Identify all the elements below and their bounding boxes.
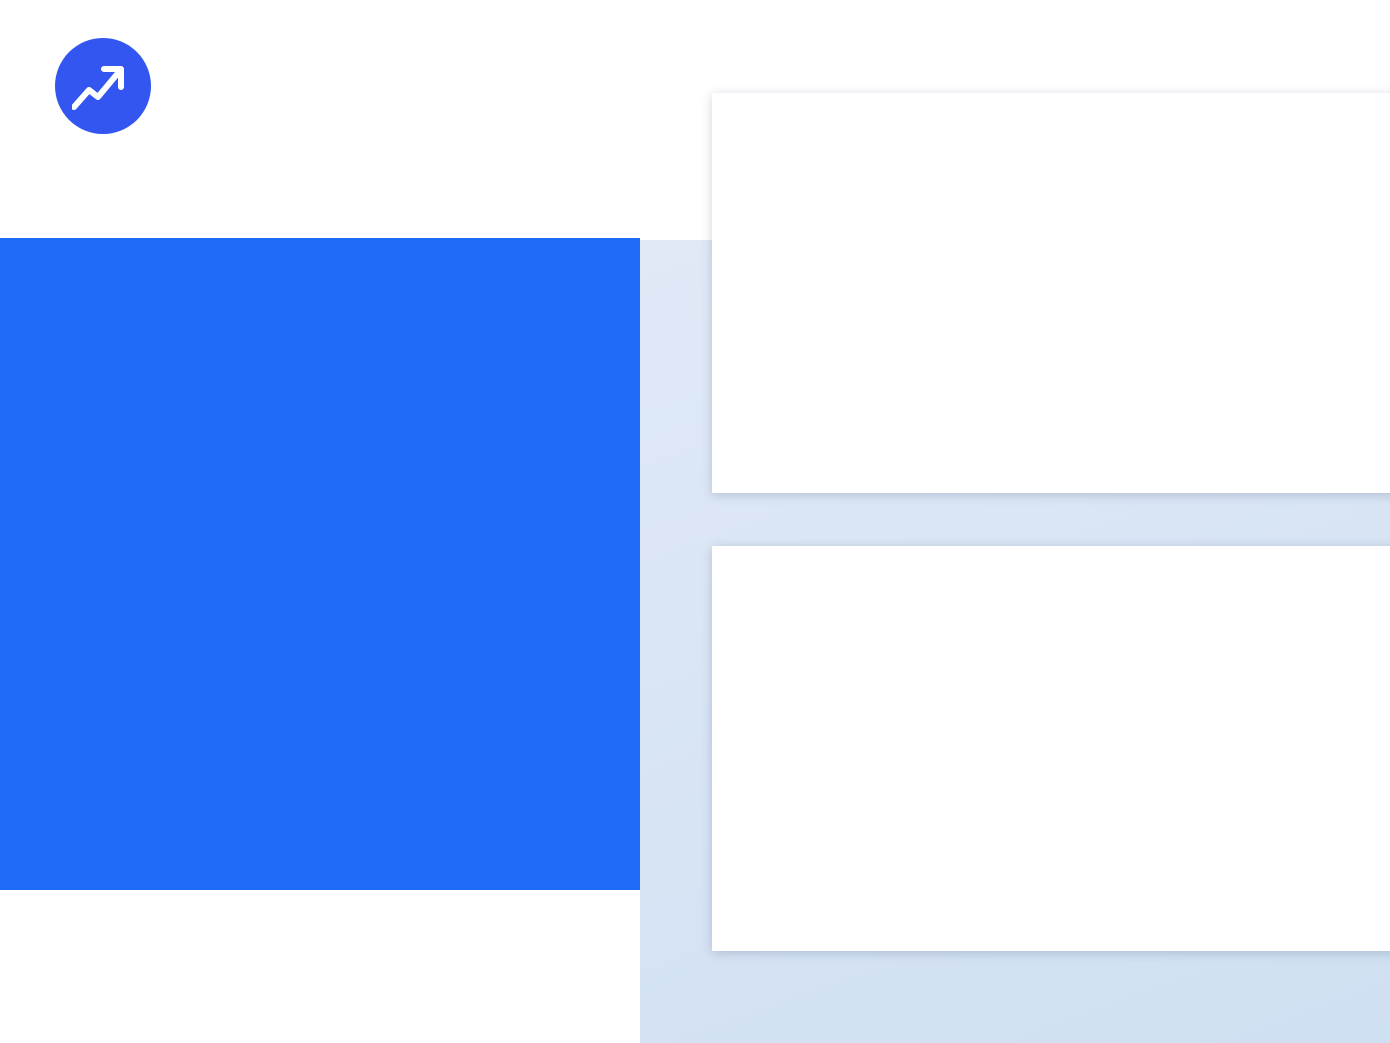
logo-circle <box>55 38 151 134</box>
dashboard-screenshot-bottom[interactable] <box>712 546 1390 951</box>
brand-logo <box>55 38 169 134</box>
blue-description-panel <box>0 238 640 890</box>
bottom-white-background <box>0 890 640 1043</box>
growth-arrow-icon <box>72 59 134 113</box>
dashboard-screenshot-top[interactable] <box>712 93 1390 493</box>
